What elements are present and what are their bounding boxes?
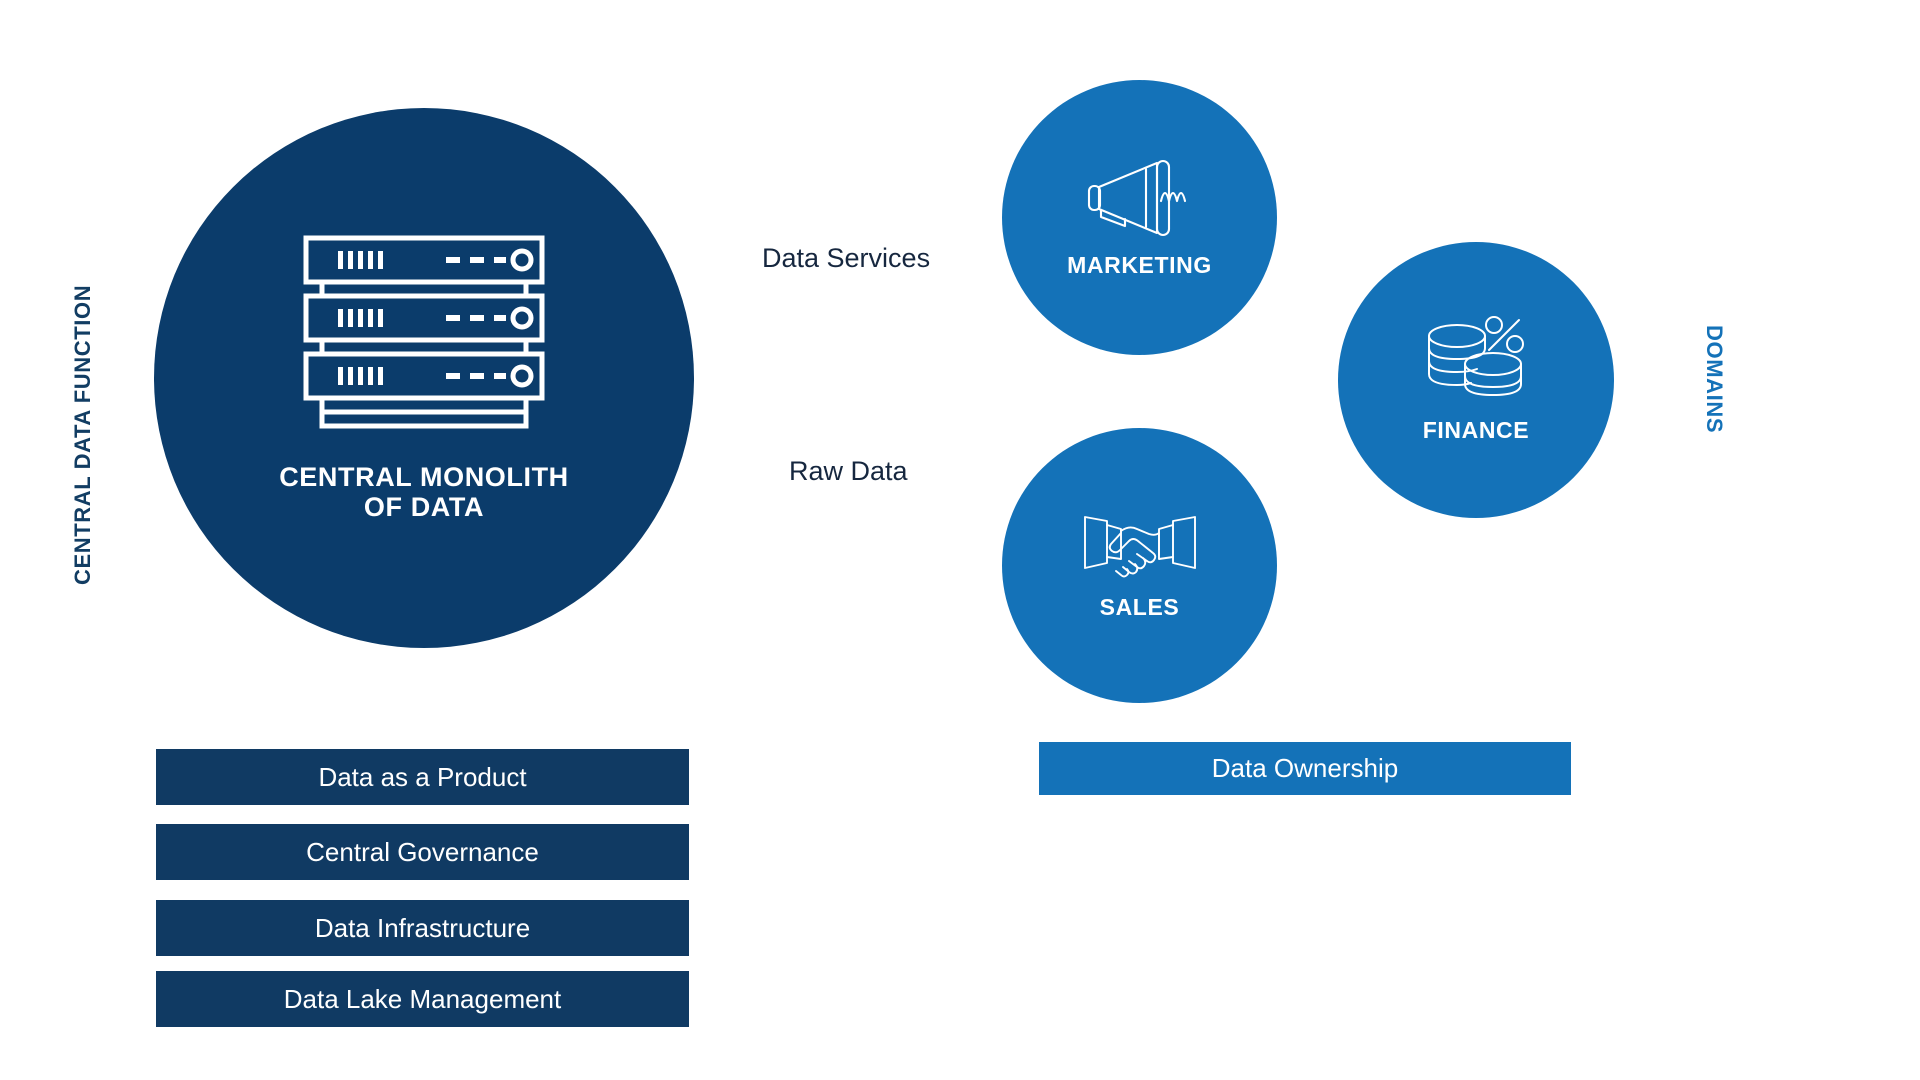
central-bar-central-governance-label: Central Governance: [306, 837, 539, 868]
coins-percent-icon: [1425, 316, 1527, 402]
domain-circle-marketing: MARKETING: [1002, 80, 1277, 355]
domain-circle-finance: FINANCE: [1338, 242, 1614, 518]
central-monolith-label: CENTRAL MONOLITH OF DATA: [279, 462, 569, 522]
central-bar-data-as-a-product: Data as a Product: [156, 749, 689, 805]
axis-label-domains-text: DOMAINS: [1703, 325, 1725, 433]
axis-label-domains: DOMAINS: [0, 0, 1, 1]
domain-label-sales: SALES: [1100, 595, 1180, 621]
handshake-icon: [1081, 511, 1199, 581]
diagram-canvas: CENTRAL DATA FUNCTION DOMAINS: [0, 0, 1920, 1080]
flow-label-raw-data: Raw Data: [789, 456, 908, 487]
domain-circle-sales: SALES: [1002, 428, 1277, 703]
megaphone-icon: [1085, 157, 1195, 239]
central-bar-data-lake-management-label: Data Lake Management: [284, 984, 562, 1015]
central-bar-central-governance: Central Governance: [156, 824, 689, 880]
central-bar-data-lake-management: Data Lake Management: [156, 971, 689, 1027]
domain-bar-data-ownership-label: Data Ownership: [1212, 753, 1398, 784]
central-monolith-circle: CENTRAL MONOLITH OF DATA: [154, 108, 694, 648]
central-monolith-label-line2: OF DATA: [364, 492, 484, 522]
domain-bar-data-ownership: Data Ownership: [1039, 742, 1571, 795]
domain-label-marketing: MARKETING: [1067, 253, 1212, 279]
central-bar-data-infrastructure: Data Infrastructure: [156, 900, 689, 956]
flow-label-data-services: Data Services: [762, 243, 930, 274]
server-rack-icon: [300, 234, 548, 434]
domain-label-finance: FINANCE: [1423, 418, 1529, 444]
axis-label-central-data-function-text: CENTRAL DATA FUNCTION: [72, 285, 94, 585]
central-bar-data-infrastructure-label: Data Infrastructure: [315, 913, 530, 944]
central-monolith-label-line1: CENTRAL MONOLITH: [279, 462, 569, 492]
central-bar-data-as-a-product-label: Data as a Product: [318, 762, 526, 793]
